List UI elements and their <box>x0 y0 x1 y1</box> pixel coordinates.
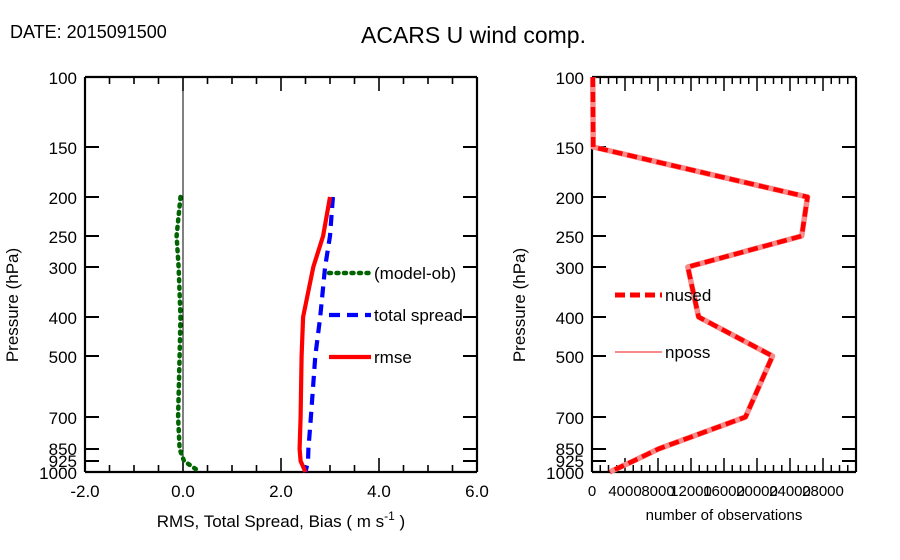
right-ytick-150: 150 <box>556 139 584 158</box>
left-ytick-250: 250 <box>49 228 77 247</box>
right-xtick-1: 4000 <box>608 483 641 500</box>
figure-canvas: DATE: 2015091500 ACARS U wind comp. <box>0 0 900 560</box>
series-nused-line <box>593 77 808 472</box>
legend-label-nposs: nposs <box>665 343 710 362</box>
legend-label-model-ob: (model-ob) <box>374 264 456 283</box>
left-xtick-2: 2.0 <box>269 482 293 501</box>
right-ytick-500: 500 <box>556 348 584 367</box>
left-x-tick-labels: -2.0 0.0 2.0 4.0 6.0 <box>70 482 488 501</box>
left-ytick-500: 500 <box>49 348 77 367</box>
left-x-axis-title-main: RMS, Total Spread, Bias ( m s <box>157 512 384 531</box>
right-x-axis-title: number of observations <box>646 507 803 524</box>
right-y-axis-title: Pressure (hPa) <box>510 248 529 362</box>
left-ytick-200: 200 <box>49 189 77 208</box>
right-panel: 100 150 200 250 300 400 500 700 850 925 … <box>510 69 856 524</box>
left-xtick-1: 0.0 <box>171 482 195 501</box>
right-ytick-250: 250 <box>556 228 584 247</box>
right-ytick-100: 100 <box>556 69 584 88</box>
left-ytick-100: 100 <box>49 69 77 88</box>
legend-label-total-spread: total spread <box>374 306 463 325</box>
right-xtick-7: 28000 <box>802 483 844 500</box>
left-ytick-400: 400 <box>49 309 77 328</box>
left-ytick-1000: 1000 <box>39 464 77 483</box>
left-xtick-3: 4.0 <box>367 482 391 501</box>
left-y-tick-labels: 100 150 200 250 300 400 500 700 850 925 … <box>39 69 77 483</box>
series-model-ob-line <box>177 197 200 472</box>
right-ytick-200: 200 <box>556 189 584 208</box>
series-rmse-line <box>300 197 330 472</box>
left-xtick-4: 6.0 <box>465 482 489 501</box>
right-ytick-700: 700 <box>556 409 584 428</box>
legend-label-nused: nused <box>665 286 711 305</box>
legend-label-rmse: rmse <box>374 348 412 367</box>
left-panel: 100 150 200 250 300 400 500 700 850 925 … <box>3 69 489 531</box>
right-x-tick-labels: 0 4000 8000 12000 16000 20000 24000 2800… <box>588 483 844 500</box>
left-x-axis-title-exponent: -1 <box>384 509 395 523</box>
left-ytick-300: 300 <box>49 259 77 278</box>
page-title: ACARS U wind comp. <box>361 22 586 48</box>
plot-svg: DATE: 2015091500 ACARS U wind comp. <box>0 0 900 560</box>
right-ytick-1000: 1000 <box>546 464 584 483</box>
series-total-spread-line <box>306 197 333 472</box>
right-ytick-300: 300 <box>556 259 584 278</box>
left-x-axis-title: RMS, Total Spread, Bias ( m s-1 ) <box>157 509 405 531</box>
right-xtick-0: 0 <box>588 483 596 500</box>
right-y-tick-labels: 100 150 200 250 300 400 500 700 850 925 … <box>546 69 584 483</box>
right-axes-frame <box>592 77 856 472</box>
left-legend: (model-ob) total spread rmse <box>329 264 463 367</box>
series-nposs-line <box>593 77 808 472</box>
left-y-axis-title: Pressure (hPa) <box>3 248 22 362</box>
left-xtick-0: -2.0 <box>70 482 99 501</box>
right-legend: nused nposs <box>615 286 711 362</box>
right-x-ticks <box>592 77 856 472</box>
left-ytick-150: 150 <box>49 139 77 158</box>
right-ytick-400: 400 <box>556 309 584 328</box>
date-label: DATE: 2015091500 <box>10 22 167 42</box>
right-y-ticks <box>592 77 856 472</box>
left-x-axis-title-tail: ) <box>395 512 405 531</box>
left-ytick-700: 700 <box>49 409 77 428</box>
